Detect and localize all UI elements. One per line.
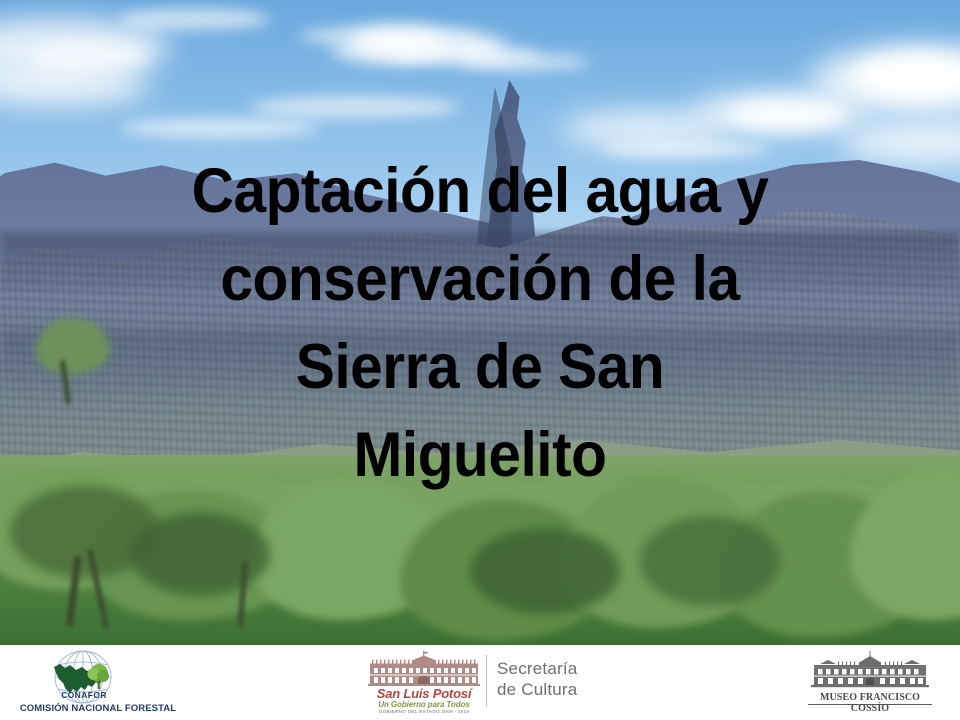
slp-state-name: San Luis Potosí — [368, 686, 480, 701]
footer-logo-bar: CONAFOR COMISIÓN NACIONAL FORESTAL — [0, 645, 960, 720]
slp-period: GOBIERNO DEL ESTADO 2009 - 2015 — [368, 709, 480, 714]
conafor-logo: CONAFOR COMISIÓN NACIONAL FORESTAL — [18, 647, 178, 719]
slp-government-palace-icon — [368, 651, 480, 687]
secretaria-de-cultura-label: Secretaría de Cultura — [497, 658, 577, 700]
logo-divider — [486, 655, 487, 707]
cloud-icon — [250, 96, 460, 118]
cloud-icon — [120, 8, 270, 30]
conafor-acronym: CONAFOR — [51, 690, 117, 700]
museo-francisco-cossio-logo: MUSEO FRANCISCO COSSÍO — [800, 649, 940, 717]
museo-francisco-cossio-building-icon — [808, 651, 932, 691]
tree — [640, 516, 780, 606]
museo-name: MUSEO FRANCISCO COSSÍO — [800, 692, 940, 714]
cloud-icon — [726, 100, 846, 130]
presentation-slide: Captación del agua y conservación de la … — [0, 0, 960, 720]
san-luis-potosi-culture-logo: San Luis Potosí Un Gobierno para Todos G… — [364, 645, 574, 720]
slp-tagline: Un Gobierno para Todos — [368, 700, 480, 709]
background-photo-sierra-de-san-miguelito: Captación del agua y conservación de la … — [0, 0, 960, 645]
tree — [130, 512, 270, 596]
conafor-full-name: COMISIÓN NACIONAL FORESTAL — [18, 703, 178, 714]
tree — [470, 528, 620, 614]
cloud-icon — [460, 54, 590, 70]
page-title: Captación del agua y conservación de la … — [34, 147, 927, 499]
conafor-globe-mexico-tree-icon — [46, 649, 120, 711]
cloud-icon — [120, 118, 320, 138]
